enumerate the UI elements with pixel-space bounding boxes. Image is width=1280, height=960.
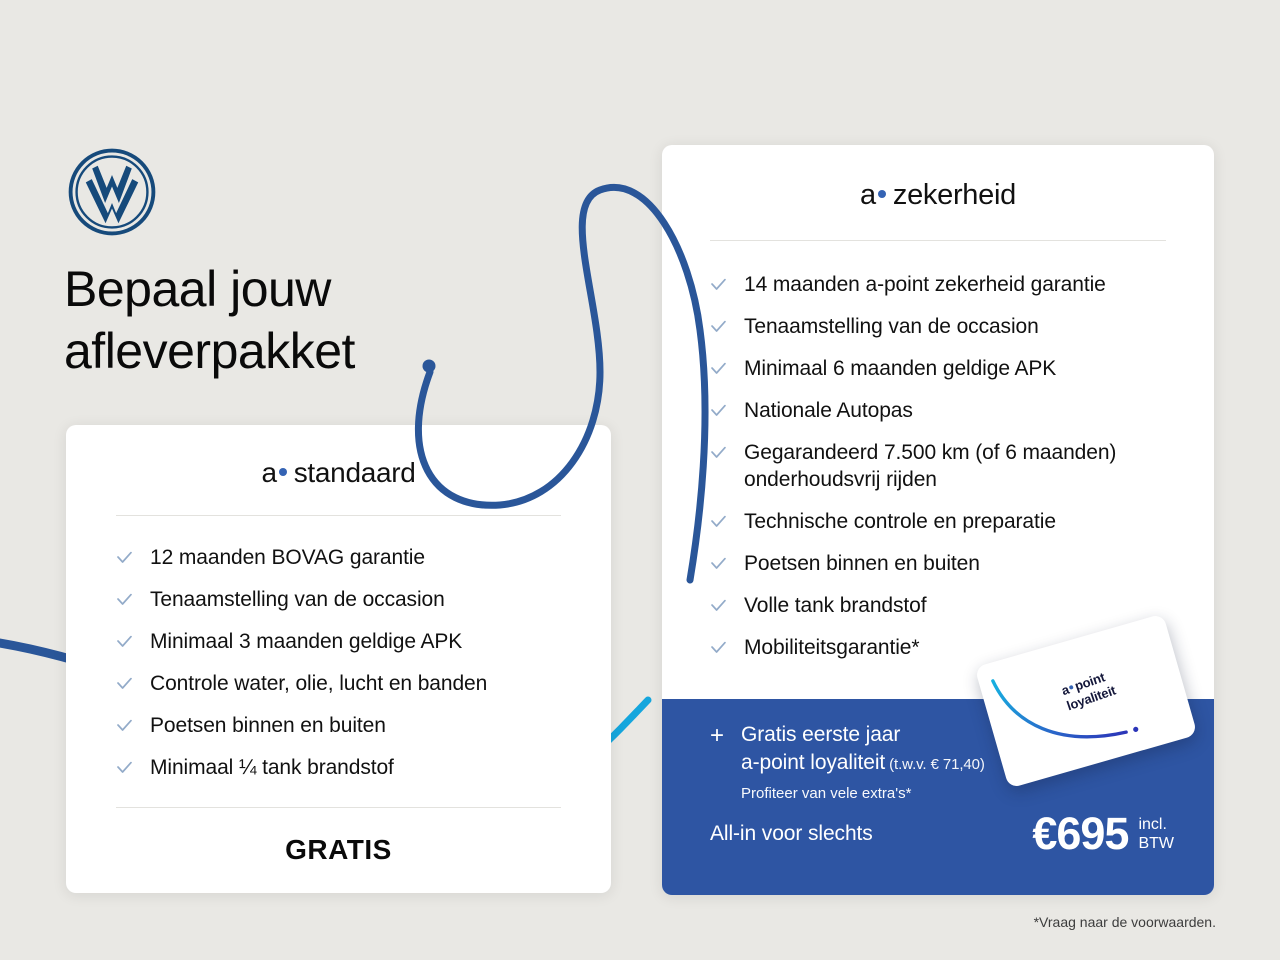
- price-vat-note: incl. BTW: [1138, 815, 1174, 853]
- check-icon: [116, 676, 133, 693]
- feature-list-zekerheid: 14 maanden a-point zekerheid garantie Te…: [662, 271, 1214, 661]
- list-item-label: Minimaal ¼ tank brandstof: [150, 754, 394, 781]
- list-item-label: Volle tank brandstof: [744, 592, 926, 619]
- price-standaard: GRATIS: [66, 834, 611, 866]
- package-card-zekerheid[interactable]: azekerheid 14 maanden a-point zekerheid …: [662, 145, 1214, 895]
- check-icon: [710, 319, 727, 336]
- brand-dot-icon: [878, 190, 886, 198]
- promo-page: Bepaal jouw afleverpakket astandaard 12 …: [0, 0, 1280, 960]
- list-item-label: Tenaamstelling van de occasion: [744, 313, 1039, 340]
- brand-dot-icon: [279, 468, 287, 476]
- list-item: Tenaamstelling van de occasion: [710, 313, 1184, 340]
- list-item-label: Minimaal 6 maanden geldige APK: [744, 355, 1056, 382]
- list-item: Poetsen binnen en buiten: [116, 712, 611, 739]
- list-item: Nationale Autopas: [710, 397, 1184, 424]
- divider: [116, 515, 561, 516]
- list-item-label: Gegarandeerd 7.500 km (of 6 maanden) ond…: [744, 439, 1184, 493]
- list-item-label: Controle water, olie, lucht en banden: [150, 670, 487, 697]
- list-item-label: 14 maanden a-point zekerheid garantie: [744, 271, 1106, 298]
- list-item-label: Poetsen binnen en buiten: [744, 550, 980, 577]
- bonus-line-1: Gratis eerste jaar: [741, 721, 985, 749]
- list-item: Gegarandeerd 7.500 km (of 6 maanden) ond…: [710, 439, 1184, 493]
- list-item: Volle tank brandstof: [710, 592, 1184, 619]
- check-icon: [116, 550, 133, 567]
- plus-icon: +: [710, 724, 724, 748]
- check-icon: [710, 598, 727, 615]
- brand-dot-icon: [1069, 685, 1074, 690]
- bonus-value-note: (t.w.v. € 71,40): [889, 756, 985, 773]
- list-item: Controle water, olie, lucht en banden: [116, 670, 611, 697]
- list-item-label: Tenaamstelling van de occasion: [150, 586, 445, 613]
- check-icon: [116, 634, 133, 651]
- list-item: Minimaal 6 maanden geldige APK: [710, 355, 1184, 382]
- list-item-label: Technische controle en preparatie: [744, 508, 1056, 535]
- card-title-text: standaard: [294, 457, 416, 488]
- list-item-label: Mobiliteitsgarantie*: [744, 634, 919, 661]
- list-item: 12 maanden BOVAG garantie: [116, 544, 611, 571]
- list-item-label: Nationale Autopas: [744, 397, 913, 424]
- check-icon: [116, 718, 133, 735]
- footnote: *Vraag naar de voorwaarden.: [1034, 914, 1216, 930]
- divider: [710, 240, 1166, 241]
- list-item: Technische controle en preparatie: [710, 508, 1184, 535]
- check-icon: [116, 760, 133, 777]
- price-label: All-in voor slechts: [710, 822, 873, 846]
- bonus-subtitle: Profiteer van vele extra's*: [741, 785, 985, 802]
- card-title-standaard: astandaard: [66, 425, 611, 489]
- check-icon: [710, 277, 727, 294]
- list-item-label: 12 maanden BOVAG garantie: [150, 544, 425, 571]
- bonus-line-2: a-point loyaliteit: [741, 751, 885, 774]
- list-item: Minimaal ¼ tank brandstof: [116, 754, 611, 781]
- check-icon: [710, 556, 727, 573]
- list-item: Tenaamstelling van de occasion: [116, 586, 611, 613]
- volkswagen-logo: [66, 146, 158, 238]
- list-item: Poetsen binnen en buiten: [710, 550, 1184, 577]
- feature-list-standaard: 12 maanden BOVAG garantie Tenaamstelling…: [66, 544, 611, 781]
- check-icon: [116, 592, 133, 609]
- list-item-label: Poetsen binnen en buiten: [150, 712, 386, 739]
- divider: [116, 807, 561, 808]
- list-item: 14 maanden a-point zekerheid garantie: [710, 271, 1184, 298]
- card-title-text: zekerheid: [893, 179, 1016, 211]
- bonus-offer: + Gratis eerste jaar a-point loyaliteit(…: [710, 721, 985, 802]
- brand-letter-a: a: [860, 179, 876, 211]
- page-headline: Bepaal jouw afleverpakket: [64, 258, 355, 382]
- check-icon: [710, 640, 727, 657]
- list-item-label: Minimaal 3 maanden geldige APK: [150, 628, 462, 655]
- price-amount: €695: [1032, 811, 1128, 856]
- check-icon: [710, 361, 727, 378]
- card-title-zekerheid: azekerheid: [662, 145, 1214, 212]
- package-card-standaard[interactable]: astandaard 12 maanden BOVAG garantie Ten…: [66, 425, 611, 893]
- check-icon: [710, 514, 727, 531]
- check-icon: [710, 403, 727, 420]
- price-row: All-in voor slechts €695 incl. BTW: [710, 811, 1174, 856]
- list-item: Minimaal 3 maanden geldige APK: [116, 628, 611, 655]
- brand-letter-a: a: [261, 457, 276, 488]
- check-icon: [710, 445, 727, 462]
